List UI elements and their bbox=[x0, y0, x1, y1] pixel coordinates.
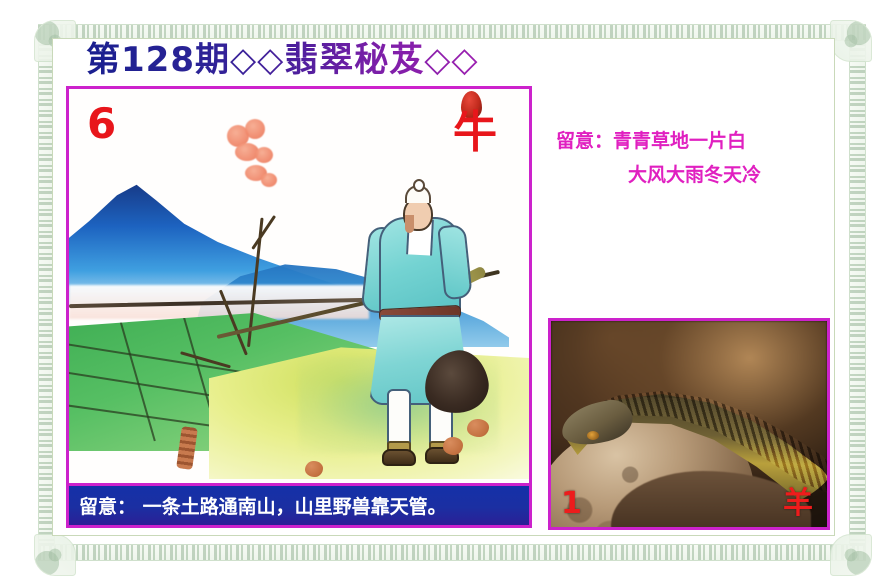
figure-beard bbox=[405, 215, 414, 233]
main-number-label: 6 bbox=[87, 103, 116, 145]
blossom-4 bbox=[255, 147, 273, 163]
hint-label: 留意： bbox=[556, 130, 613, 152]
hint-line-1: 青青草地一片白 bbox=[613, 130, 746, 152]
main-caption-bar: 留意： 一条土路通南山，山里野兽靠天管。 bbox=[66, 486, 532, 528]
illustration-canvas: 6 牛 bbox=[69, 89, 529, 483]
frame-band-right bbox=[849, 40, 866, 546]
snake-eye-icon bbox=[587, 431, 599, 440]
stone-3 bbox=[305, 461, 323, 477]
hint-line-2: 大风大雨冬天冷 bbox=[556, 158, 846, 192]
frame-corner-top-right bbox=[830, 20, 872, 62]
photo-zodiac-label: 羊 bbox=[783, 489, 813, 519]
figure-top-knot bbox=[413, 179, 425, 192]
poster-root: 第128期◇◇翡翠秘芨◇◇ bbox=[0, 0, 887, 582]
page-title: 第128期◇◇翡翠秘芨◇◇ bbox=[86, 32, 479, 81]
stone-1 bbox=[467, 419, 489, 437]
frame-band-bottom bbox=[38, 544, 866, 561]
stone-2 bbox=[443, 437, 463, 455]
frame-corner-bottom-left bbox=[34, 534, 76, 576]
blossom-2 bbox=[245, 119, 265, 139]
figure-left-shoe bbox=[382, 449, 416, 466]
photo-number-label: 1 bbox=[561, 489, 582, 519]
main-zodiac-label: 牛 bbox=[453, 111, 497, 155]
frame-corner-bottom-right bbox=[830, 534, 872, 576]
main-picture-card[interactable]: 6 牛 bbox=[66, 86, 532, 486]
main-caption-text: 留意： 一条土路通南山，山里野兽靠天管。 bbox=[79, 492, 447, 519]
blossom-6 bbox=[261, 173, 277, 187]
snake-photo-card[interactable]: 1 羊 bbox=[548, 318, 830, 530]
hint-block: 留意：青青草地一片白 大风大雨冬天冷 bbox=[556, 124, 846, 192]
